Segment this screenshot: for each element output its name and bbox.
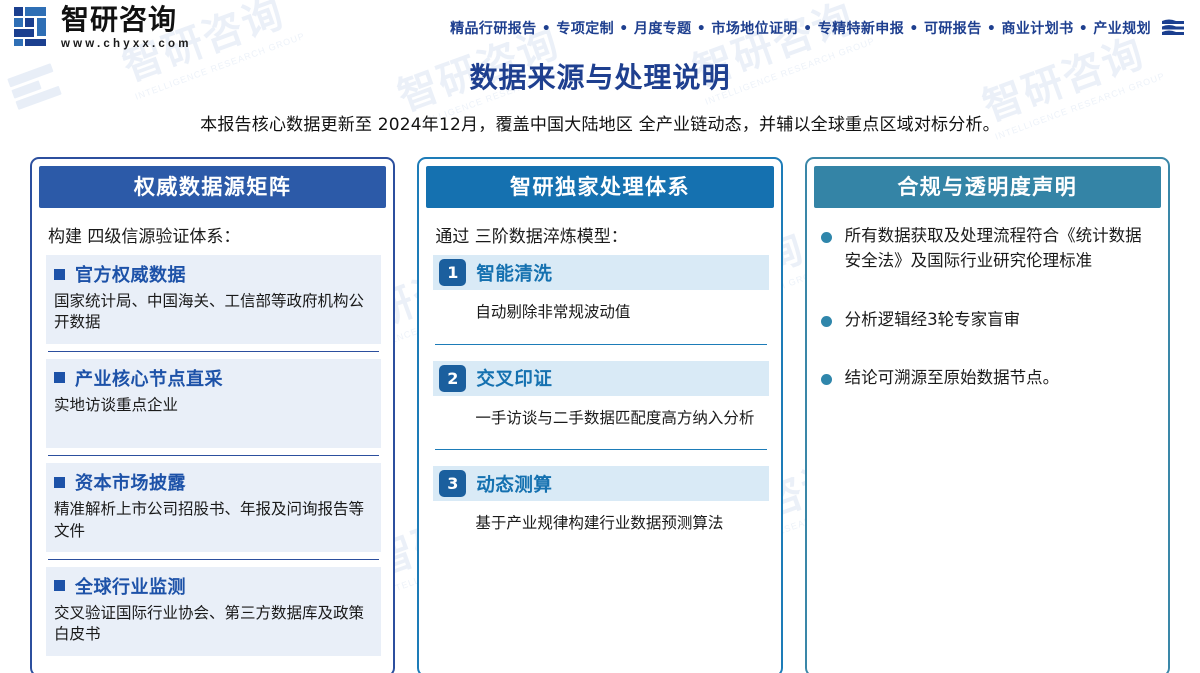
stacked-waves-icon <box>1160 18 1186 38</box>
bullet-text: 结论可溯源至原始数据节点。 <box>845 366 1060 391</box>
card2-body: 通过 三阶数据淬炼模型： 1 智能清洗 自动剔除非常规波动值 2 交叉印证 一手… <box>419 208 780 673</box>
item-title: 资本市场披露 <box>75 469 186 495</box>
item-title: 全球行业监测 <box>75 573 186 599</box>
item-desc: 精准解析上市公司招股书、年报及问询报告等文件 <box>54 499 373 542</box>
step-title: 动态测算 <box>476 471 552 497</box>
step-desc: 基于产业规律构建行业数据预测算法 <box>475 513 768 535</box>
dot-bullet-icon <box>821 316 832 327</box>
brand-name: 智研咨询 <box>61 6 192 34</box>
header-bar: 智研咨询 www.chyxx.com 精品行研报告 • 专项定制 • 月度专题 … <box>0 0 1200 52</box>
list-item[interactable]: 全球行业监测 交叉验证国际行业协会、第三方数据库及政策白皮书 <box>46 567 381 656</box>
divider <box>435 449 766 450</box>
card-compliance-transparency-statement[interactable]: 合规与透明度声明 所有数据获取及处理流程符合《统计数据安全法》及国际行业研究伦理… <box>805 157 1170 673</box>
divider <box>435 344 766 345</box>
card1-header: 权威数据源矩阵 <box>39 166 386 208</box>
step-title-row: 2 交叉印证 <box>433 361 768 396</box>
item-title-row: 产业核心节点直采 <box>54 365 373 391</box>
square-bullet-icon <box>54 477 65 488</box>
square-bullet-icon <box>54 372 65 383</box>
list-item[interactable]: 所有数据获取及处理流程符合《统计数据安全法》及国际行业研究伦理标准 <box>821 224 1156 274</box>
card1-intro: 构建 四级信源验证体系： <box>48 222 381 247</box>
dot-bullet-icon <box>821 374 832 385</box>
card2-header: 智研独家处理体系 <box>426 166 773 208</box>
square-bullet-icon <box>54 580 65 591</box>
card-authority-data-matrix[interactable]: 权威数据源矩阵 构建 四级信源验证体系： 官方权威数据 国家统计局、中国海关、工… <box>30 157 395 673</box>
list-item[interactable]: 产业核心节点直采 实地访谈重点企业 <box>46 359 381 448</box>
step-desc: 一手访谈与二手数据匹配度高方纳入分析 <box>475 408 768 430</box>
page-subtitle: 本报告核心数据更新至 2024年12月，覆盖中国大陆地区 全产业链动态，并辅以全… <box>0 110 1200 135</box>
cards-row: 权威数据源矩阵 构建 四级信源验证体系： 官方权威数据 国家统计局、中国海关、工… <box>0 157 1200 673</box>
card1-body: 构建 四级信源验证体系： 官方权威数据 国家统计局、中国海关、工信部等政府机构公… <box>32 208 393 673</box>
item-title-row: 官方权威数据 <box>54 261 373 287</box>
step-title: 智能清洗 <box>476 260 552 286</box>
item-title-row: 资本市场披露 <box>54 469 373 495</box>
card2-intro: 通过 三阶数据淬炼模型： <box>435 222 768 247</box>
bullet-text: 所有数据获取及处理流程符合《统计数据安全法》及国际行业研究伦理标准 <box>845 224 1156 274</box>
item-desc: 国家统计局、中国海关、工信部等政府机构公开数据 <box>54 291 373 334</box>
item-desc: 交叉验证国际行业协会、第三方数据库及政策白皮书 <box>54 603 373 646</box>
header-tagline-group: 精品行研报告 • 专项定制 • 月度专题 • 市场地位证明 • 专精特新申报 •… <box>450 6 1188 38</box>
step-title-row: 3 动态测算 <box>433 466 768 501</box>
dot-bullet-icon <box>821 232 832 243</box>
list-item[interactable]: 3 动态测算 基于产业规律构建行业数据预测算法 <box>433 466 768 535</box>
bullet-text: 分析逻辑经3轮专家盲审 <box>845 308 1021 333</box>
list-item[interactable]: 2 交叉印证 一手访谈与二手数据匹配度高方纳入分析 <box>433 361 768 430</box>
step-title-row: 1 智能清洗 <box>433 255 768 290</box>
page-root: 智研咨询INTELLIGENCE RESEARCH GROUP 智研咨询INTE… <box>0 0 1200 673</box>
divider <box>48 351 379 352</box>
item-title-row: 全球行业监测 <box>54 573 373 599</box>
page-title: 数据来源与处理说明 <box>0 56 1200 96</box>
card-exclusive-processing-system[interactable]: 智研独家处理体系 通过 三阶数据淬炼模型： 1 智能清洗 自动剔除非常规波动值 … <box>417 157 782 673</box>
chyxx-logo-icon <box>14 7 54 46</box>
brand-url: www.chyxx.com <box>61 38 192 50</box>
list-item[interactable]: 结论可溯源至原始数据节点。 <box>821 366 1156 391</box>
brand-text: 智研咨询 www.chyxx.com <box>61 6 192 50</box>
list-item[interactable]: 1 智能清洗 自动剔除非常规波动值 <box>433 255 768 324</box>
brand-logo[interactable]: 智研咨询 www.chyxx.com <box>14 6 192 50</box>
item-title: 官方权威数据 <box>75 261 186 287</box>
item-desc: 实地访谈重点企业 <box>54 395 373 416</box>
list-item[interactable]: 官方权威数据 国家统计局、中国海关、工信部等政府机构公开数据 <box>46 255 381 344</box>
title-block: 数据来源与处理说明 本报告核心数据更新至 2024年12月，覆盖中国大陆地区 全… <box>0 56 1200 135</box>
card3-header: 合规与透明度声明 <box>814 166 1161 208</box>
step-desc: 自动剔除非常规波动值 <box>475 302 768 324</box>
step-number-badge: 3 <box>439 470 466 497</box>
step-title: 交叉印证 <box>476 365 552 391</box>
list-item[interactable]: 分析逻辑经3轮专家盲审 <box>821 308 1156 333</box>
divider <box>48 559 379 560</box>
bullet-list: 所有数据获取及处理流程符合《统计数据安全法》及国际行业研究伦理标准 分析逻辑经3… <box>821 224 1156 391</box>
header-tagline: 精品行研报告 • 专项定制 • 月度专题 • 市场地位证明 • 专精特新申报 •… <box>450 18 1151 38</box>
divider <box>48 455 379 456</box>
item-title: 产业核心节点直采 <box>75 365 223 391</box>
step-number-badge: 2 <box>439 365 466 392</box>
card3-body: 所有数据获取及处理流程符合《统计数据安全法》及国际行业研究伦理标准 分析逻辑经3… <box>807 208 1168 673</box>
list-item[interactable]: 资本市场披露 精准解析上市公司招股书、年报及问询报告等文件 <box>46 463 381 552</box>
square-bullet-icon <box>54 269 65 280</box>
step-number-badge: 1 <box>439 259 466 286</box>
